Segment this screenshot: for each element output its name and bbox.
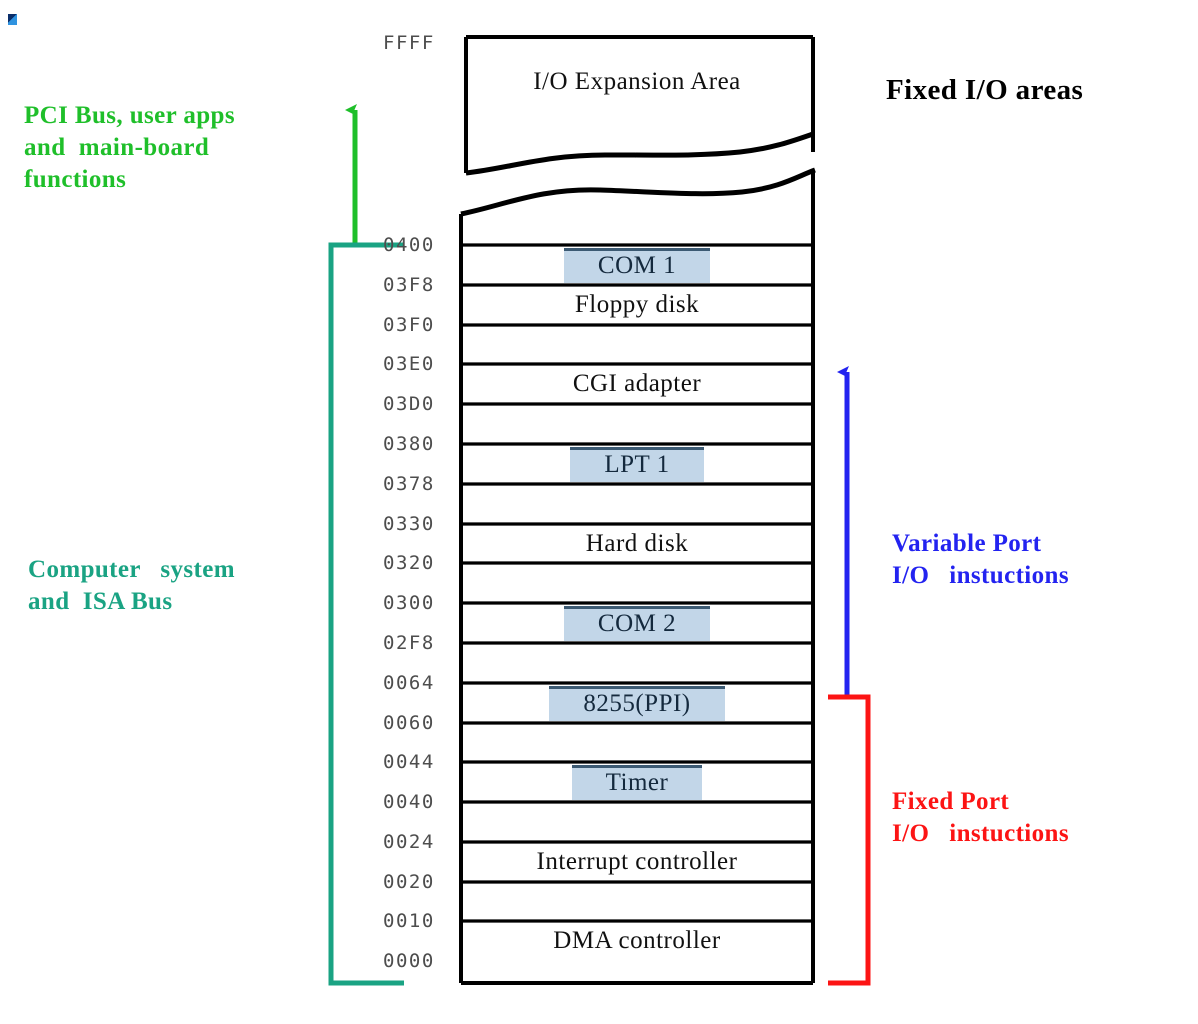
region-ppi-8255: 8255(PPI) bbox=[461, 683, 813, 723]
region-label: CGI adapter bbox=[573, 370, 701, 398]
address-label: 02F8 bbox=[383, 634, 455, 653]
region-label: Timer bbox=[572, 765, 703, 800]
region-gap-03f0 bbox=[461, 325, 813, 364]
region-hard-disk: Hard disk bbox=[461, 524, 813, 563]
address-label-column: FFFF 0400 03F8 03F0 03E0 03D0 0380 0378 … bbox=[320, 0, 455, 1024]
address-label: 03D0 bbox=[383, 395, 455, 414]
region-dma-controller: DMA controller bbox=[461, 921, 813, 961]
address-label: 0010 bbox=[383, 912, 455, 931]
region-gap-03d0 bbox=[461, 404, 813, 444]
region-interrupt-controller: Interrupt controller bbox=[461, 842, 813, 882]
region-gap-0020 bbox=[461, 882, 813, 921]
address-label: 0320 bbox=[383, 554, 455, 573]
address-label: 0040 bbox=[383, 793, 455, 812]
region-label: Hard disk bbox=[586, 530, 688, 558]
region-label: COM 2 bbox=[564, 606, 710, 641]
address-label: 0020 bbox=[383, 873, 455, 892]
address-label: 03E0 bbox=[383, 355, 455, 374]
address-label: 0380 bbox=[383, 435, 455, 454]
fixed-port-bracket bbox=[828, 697, 868, 983]
address-label: 0044 bbox=[383, 753, 455, 772]
annotation-variable-port: Variable Port I/O instuctions bbox=[892, 528, 1069, 592]
region-gap-0320 bbox=[461, 563, 813, 603]
address-label: 03F0 bbox=[383, 316, 455, 335]
region-label: Floppy disk bbox=[575, 291, 699, 319]
region-label: I/O Expansion Area bbox=[533, 68, 741, 96]
region-cgi-adapter: CGI adapter bbox=[461, 364, 813, 404]
region-com2: COM 2 bbox=[461, 603, 813, 643]
region-gap-0060 bbox=[461, 723, 813, 762]
address-label: 0060 bbox=[383, 714, 455, 733]
address-label: 0300 bbox=[383, 594, 455, 613]
address-label: 0330 bbox=[383, 515, 455, 534]
address-label: 0000 bbox=[383, 952, 455, 971]
region-label: COM 1 bbox=[564, 248, 710, 283]
annotation-isa-bus: Computer system and ISA Bus bbox=[28, 554, 235, 618]
region-gap-02f8 bbox=[461, 643, 813, 683]
region-gap-0378 bbox=[461, 484, 813, 524]
region-label: 8255(PPI) bbox=[549, 686, 724, 721]
annotation-fixed-port: Fixed Port I/O instuctions bbox=[892, 786, 1069, 850]
region-label: Interrupt controller bbox=[537, 848, 738, 876]
region-label: LPT 1 bbox=[570, 447, 703, 482]
region-timer: Timer bbox=[461, 762, 813, 802]
address-label: 0024 bbox=[383, 833, 455, 852]
address-label: 0378 bbox=[383, 475, 455, 494]
region-floppy-disk: Floppy disk bbox=[461, 285, 813, 325]
annotation-fixed-io-areas: Fixed I/O areas bbox=[886, 72, 1083, 109]
address-label: FFFF bbox=[383, 34, 455, 53]
address-label: 0064 bbox=[383, 674, 455, 693]
region-gap-0040 bbox=[461, 802, 813, 842]
region-lpt1: LPT 1 bbox=[461, 444, 813, 484]
address-label: 03F8 bbox=[383, 276, 455, 295]
region-label: DMA controller bbox=[553, 927, 720, 955]
address-label: 0400 bbox=[383, 236, 455, 255]
diagram-canvas: FFFF 0400 03F8 03F0 03E0 03D0 0380 0378 … bbox=[0, 0, 1198, 1024]
region-io-expansion-area: I/O Expansion Area bbox=[461, 50, 813, 114]
memory-map-regions: I/O Expansion Area COM 1 Floppy disk CGI… bbox=[461, 0, 813, 1024]
annotation-pci-bus: PCI Bus, user apps and main-board functi… bbox=[24, 100, 235, 196]
region-com1: COM 1 bbox=[461, 245, 813, 285]
